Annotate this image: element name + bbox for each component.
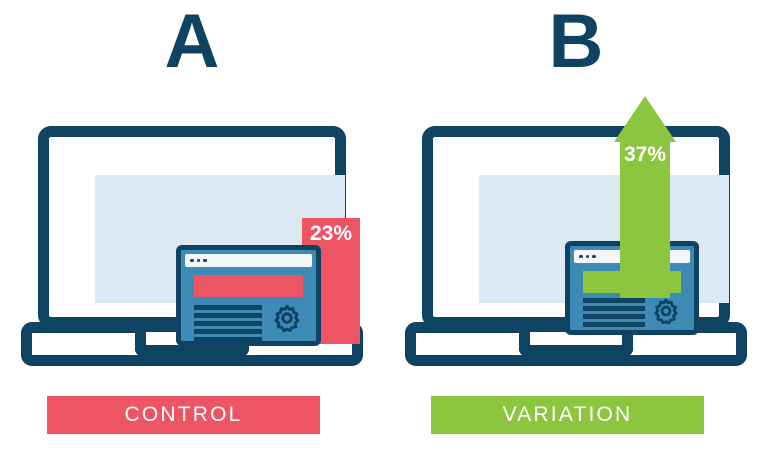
text-line: [583, 322, 645, 327]
laptop-lid-b: [422, 126, 730, 328]
percent-label-a: 23%: [302, 223, 360, 244]
text-line: [583, 298, 645, 303]
laptop-display-b: [479, 175, 729, 303]
browser-text-lines-a: [194, 305, 262, 342]
arrow-head: [614, 96, 676, 142]
browser-dot-icon: [197, 259, 201, 263]
gear-icon: [271, 302, 303, 334]
variant-label-variation: VARIATION: [431, 396, 704, 434]
variant-group-b: B: [384, 0, 768, 453]
text-line: [194, 321, 262, 326]
ab-test-illustration: A 23%: [0, 0, 768, 453]
browser-text-lines-b: [583, 298, 645, 335]
browser-dot-icon: [592, 255, 596, 259]
text-line: [583, 306, 645, 311]
laptop-trackpad-notch-b: [519, 332, 633, 356]
laptop-display-a: 23%: [95, 175, 345, 303]
browser-hero-banner-a: [194, 275, 303, 297]
text-line: [583, 330, 645, 335]
growth-arrow-up-icon: [614, 96, 676, 298]
variant-label-control: CONTROL: [47, 396, 320, 434]
gear-icon: [651, 296, 681, 326]
laptop-b: 37%: [405, 126, 747, 366]
percent-label-b: 37%: [614, 144, 676, 165]
text-line: [583, 314, 645, 319]
text-line: [194, 305, 262, 310]
variant-letter-b: B: [384, 4, 768, 80]
laptop-lid-a: 23%: [38, 126, 346, 328]
text-line: [194, 313, 262, 318]
browser-titlebar-a: [185, 254, 312, 267]
browser-dot-icon: [203, 259, 207, 263]
laptop-a: 23%: [21, 126, 363, 366]
variant-letter-a: A: [0, 4, 384, 80]
browser-window-a: [176, 245, 321, 346]
browser-dot-icon: [579, 255, 583, 259]
browser-dot-icon: [586, 255, 590, 259]
text-line: [194, 337, 262, 342]
browser-dot-icon: [190, 259, 194, 263]
variant-group-a: A 23%: [0, 0, 384, 453]
text-line: [194, 329, 262, 334]
